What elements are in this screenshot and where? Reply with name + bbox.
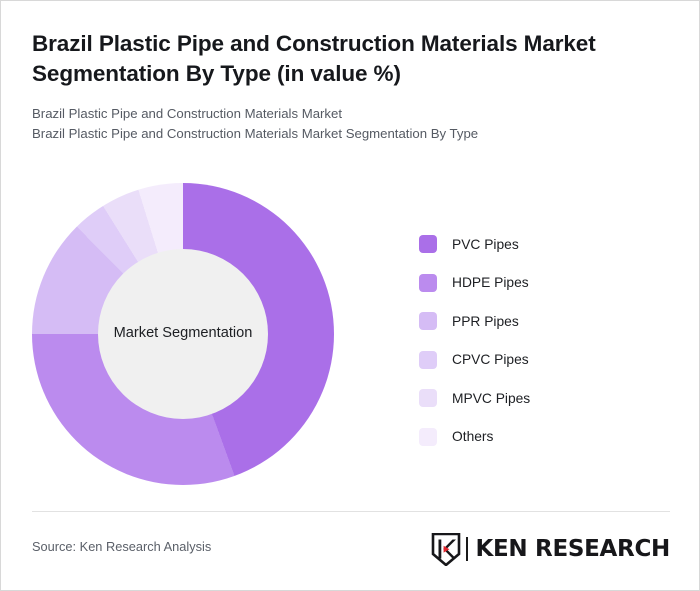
legend-item[interactable]: PPR Pipes — [419, 302, 530, 341]
chart-subtitle-line-1: Brazil Plastic Pipe and Construction Mat… — [32, 104, 672, 124]
ken-research-shield-icon — [431, 533, 461, 566]
legend-item[interactable]: MPVC Pipes — [419, 379, 530, 418]
legend-item[interactable]: PVC Pipes — [419, 225, 530, 264]
legend-item-label: Others — [452, 429, 493, 444]
chart-subtitles: Brazil Plastic Pipe and Construction Mat… — [32, 104, 672, 145]
chart-header: Brazil Plastic Pipe and Construction Mat… — [32, 29, 672, 145]
legend-item-label: PPR Pipes — [452, 314, 519, 329]
legend-swatch-icon — [419, 428, 437, 446]
donut-chart: Market Segmentation — [32, 183, 334, 485]
chart-area: Market Segmentation PVC PipesHDPE PipesP… — [1, 169, 700, 499]
brand-name: KEN RESEARCH — [475, 536, 670, 562]
legend-item-label: PVC Pipes — [452, 237, 519, 252]
legend-swatch-icon — [419, 312, 437, 330]
donut-center-label: Market Segmentation — [108, 325, 259, 343]
chart-card: Brazil Plastic Pipe and Construction Mat… — [0, 0, 700, 591]
chart-footer: Source: Ken Research Analysis KEN RESEAR… — [32, 531, 670, 567]
legend-swatch-icon — [419, 389, 437, 407]
footer-divider — [32, 511, 670, 512]
legend-swatch-icon — [419, 351, 437, 369]
legend-swatch-icon — [419, 235, 437, 253]
legend-item[interactable]: HDPE Pipes — [419, 264, 530, 303]
brand-separator — [466, 537, 468, 561]
chart-subtitle-line-2: Brazil Plastic Pipe and Construction Mat… — [32, 124, 672, 144]
legend-item[interactable]: Others — [419, 418, 530, 457]
legend-item-label: CPVC Pipes — [452, 352, 529, 367]
page-title: Brazil Plastic Pipe and Construction Mat… — [32, 29, 672, 89]
source-note: Source: Ken Research Analysis — [32, 539, 211, 554]
legend-swatch-icon — [419, 274, 437, 292]
donut-hole: Market Segmentation — [98, 249, 268, 419]
brand-logo: KEN RESEARCH — [431, 531, 670, 567]
legend-item[interactable]: CPVC Pipes — [419, 341, 530, 380]
legend-item-label: HDPE Pipes — [452, 275, 529, 290]
legend-item-label: MPVC Pipes — [452, 391, 530, 406]
chart-legend: PVC PipesHDPE PipesPPR PipesCPVC PipesMP… — [419, 225, 530, 456]
